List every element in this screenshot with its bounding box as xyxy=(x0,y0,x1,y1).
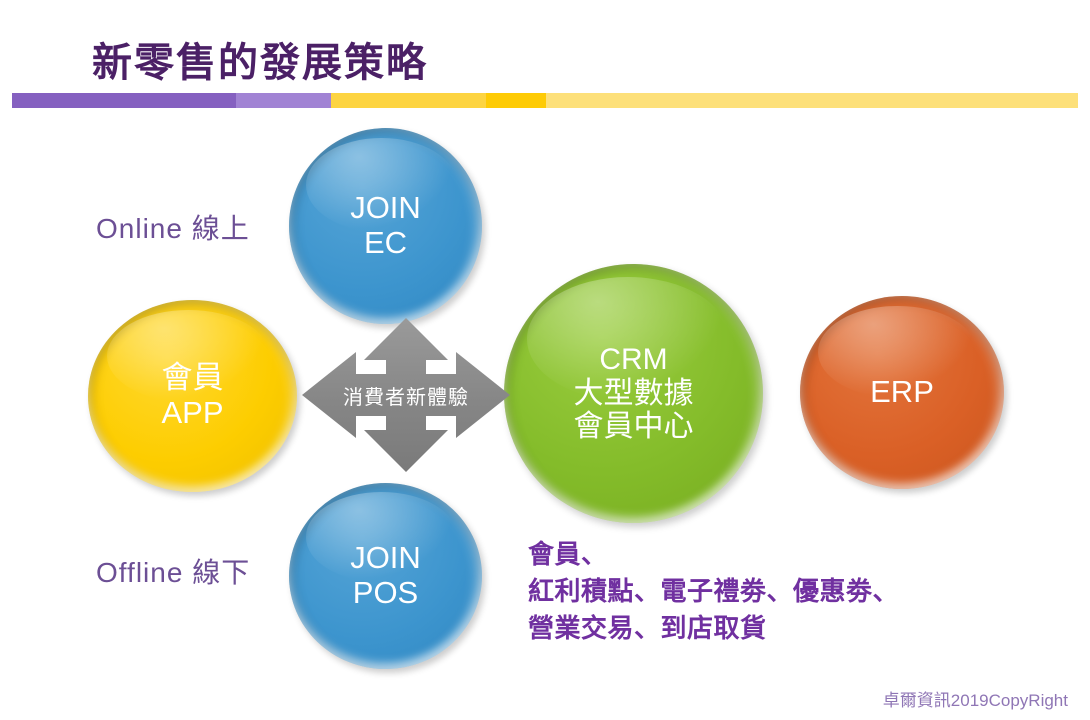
bullet-text-block: 會員、 紅利積點、電子禮劵、優惠劵、 營業交易、到店取貨 xyxy=(528,536,899,647)
node-erp-label: ERP xyxy=(870,375,934,410)
node-join-pos[interactable]: JOIN POS xyxy=(289,483,482,669)
label-online: Online 線上 xyxy=(96,207,250,247)
accent-bar-segment-light-purple xyxy=(236,93,331,108)
node-join-pos-line1: JOIN xyxy=(350,541,421,576)
node-join-ec[interactable]: JOIN EC xyxy=(289,128,482,324)
node-crm-label: CRM 大型數據 會員中心 xyxy=(574,343,694,444)
label-offline: Offline 線下 xyxy=(96,551,250,591)
page-title: 新零售的發展策略 xyxy=(92,30,428,88)
node-join-ec-line1: JOIN xyxy=(350,191,421,226)
node-crm-line2: 大型數據 xyxy=(574,377,694,411)
accent-bar-segment-dark-purple xyxy=(12,93,236,108)
node-member-app-line1: 會員 xyxy=(161,361,223,396)
node-join-pos-label: JOIN POS xyxy=(350,541,421,610)
four-way-arrow-icon xyxy=(298,316,514,474)
node-join-pos-line2: POS xyxy=(350,576,421,611)
node-member-app[interactable]: 會員 APP xyxy=(88,300,297,492)
node-erp-line1: ERP xyxy=(870,375,934,410)
node-crm-line1: CRM xyxy=(574,343,694,377)
bullet-line-2: 紅利積點、電子禮劵、優惠劵、 xyxy=(528,573,899,610)
node-member-app-line2: APP xyxy=(161,396,223,431)
node-crm-line3: 會員中心 xyxy=(574,410,694,444)
node-member-app-label: 會員 APP xyxy=(161,361,223,430)
bullet-line-3: 營業交易、到店取貨 xyxy=(528,610,899,647)
node-join-ec-label: JOIN EC xyxy=(350,191,421,260)
accent-bar-segment-yellow xyxy=(331,93,486,108)
accent-bar xyxy=(12,93,1078,108)
node-join-ec-line2: EC xyxy=(350,226,421,261)
footer-copyright: 卓爾資訊2019CopyRight xyxy=(883,686,1068,711)
node-crm[interactable]: CRM 大型數據 會員中心 xyxy=(504,264,763,523)
bullet-line-1: 會員、 xyxy=(528,536,899,573)
accent-bar-segment-pale-yellow xyxy=(546,93,1078,108)
accent-bar-segment-bright-yellow xyxy=(486,93,546,108)
slide-canvas: 新零售的發展策略 Online 線上 Offline 線下 JOIN EC 會員… xyxy=(0,0,1090,720)
node-erp[interactable]: ERP xyxy=(800,296,1004,489)
